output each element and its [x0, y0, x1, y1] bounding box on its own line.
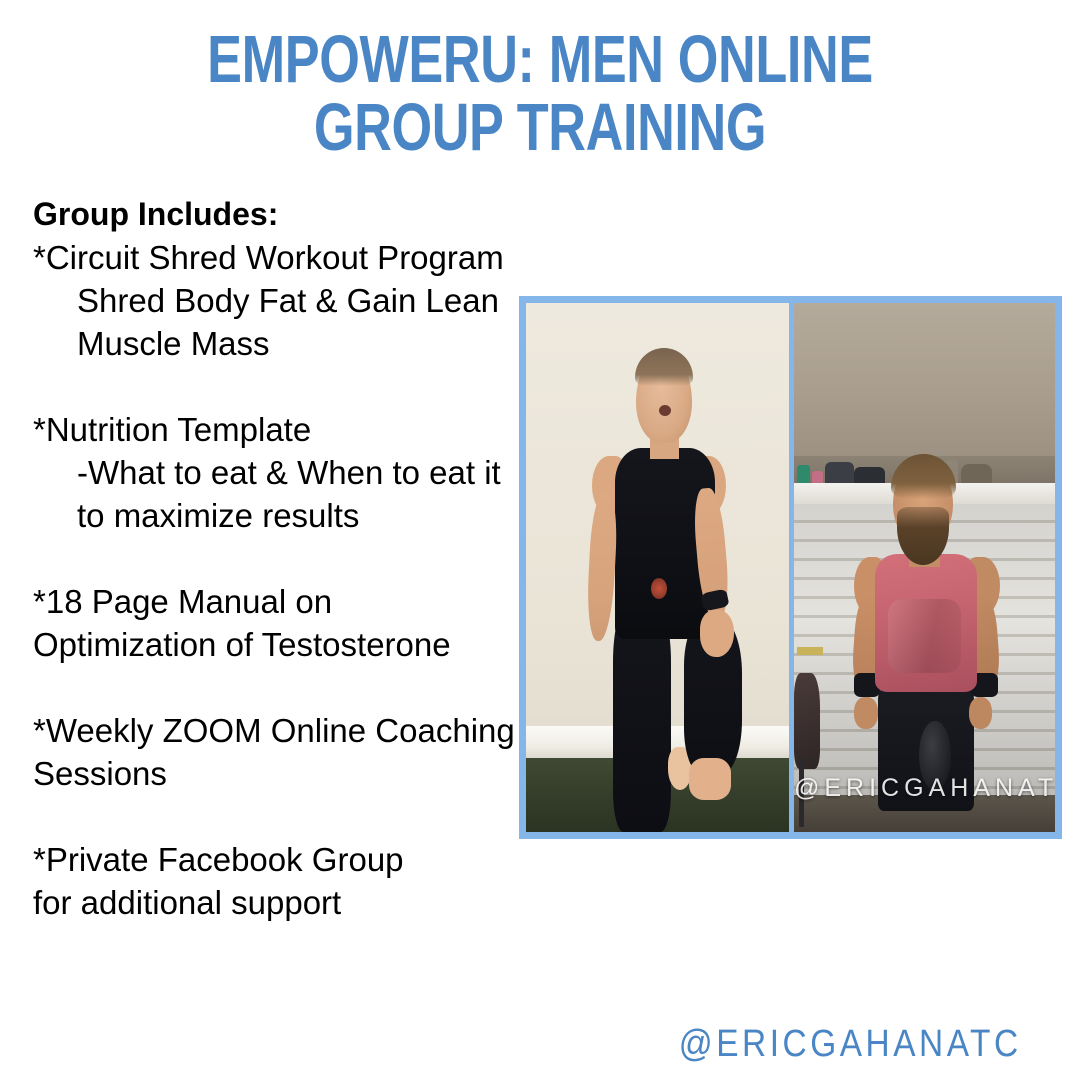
tank-logo [651, 578, 667, 599]
wall-tape [797, 647, 823, 655]
feature-line: *18 Page Manual on [33, 580, 523, 623]
feature-line: *Private Facebook Group [33, 838, 523, 881]
feature-block-zoom-coaching: *Weekly ZOOM Online Coaching Sessions [33, 709, 523, 795]
tank-fold-shading [888, 599, 961, 673]
feature-block-facebook-group: *Private Facebook Group for additional s… [33, 838, 523, 924]
feature-line: *Nutrition Template [33, 408, 523, 451]
left-hand [854, 697, 877, 729]
feature-line: Muscle Mass [33, 322, 523, 365]
feature-block-circuit-shred: *Circuit Shred Workout Program Shred Bod… [33, 236, 523, 365]
block-spacer [33, 795, 523, 838]
feature-line: -What to eat & When to eat it [33, 451, 523, 494]
feature-block-manual: *18 Page Manual on Optimization of Testo… [33, 580, 523, 666]
features-list: Group Includes: *Circuit Shred Workout P… [33, 193, 523, 924]
block-spacer [33, 365, 523, 408]
ceiling-wall [794, 303, 1055, 467]
front-shin [689, 758, 731, 800]
block-spacer [33, 537, 523, 580]
social-handle: @ERICGAHANATC [679, 1023, 1022, 1066]
page-title: EmpowerU: Men Online Group Training [158, 26, 922, 162]
poster-canvas: EmpowerU: Men Online Group Training Grou… [0, 0, 1080, 1080]
feature-line: for additional support [33, 881, 523, 924]
photo-left-lunge [526, 303, 789, 832]
features-heading: Group Includes: [33, 193, 523, 235]
feature-line: Optimization of Testosterone [33, 623, 523, 666]
right-hand [969, 697, 992, 729]
feature-line: to maximize results [33, 494, 523, 537]
feature-block-nutrition-template: *Nutrition Template -What to eat & When … [33, 408, 523, 537]
feature-line: *Circuit Shred Workout Program [33, 236, 523, 279]
mouth [659, 405, 671, 416]
photo-collage: @ERICGAHANATC [519, 296, 1062, 839]
feature-line: Sessions [33, 752, 523, 795]
hand-on-knee [700, 610, 734, 658]
photo-watermark: @ERICGAHANATC [794, 774, 1055, 803]
photo-right-gym: @ERICGAHANATC [794, 303, 1055, 832]
block-spacer [33, 666, 523, 709]
feature-line: Shred Body Fat & Gain Lean [33, 279, 523, 322]
gym-bag [794, 673, 820, 768]
feature-line: *Weekly ZOOM Online Coaching [33, 709, 523, 752]
